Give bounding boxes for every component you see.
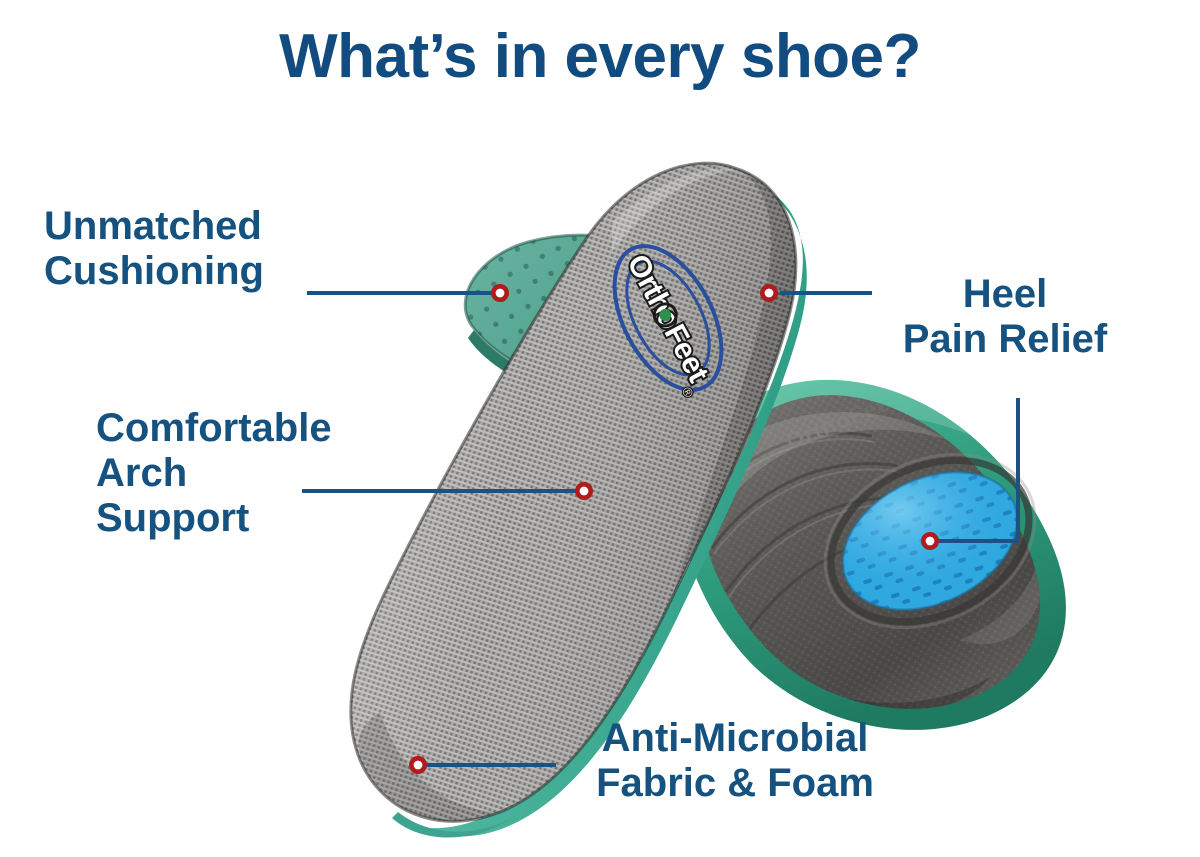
- callout-label-anti-microbial-fabric-foam: Anti-Microbial Fabric & Foam: [565, 716, 905, 806]
- callout-label-unmatched-cushioning: Unmatched Cushioning: [44, 204, 264, 294]
- marker-comfortable-arch-support: [575, 482, 593, 500]
- callout-label-heel-pain-relief: Heel Pain Relief: [880, 272, 1130, 362]
- callout-label-comfortable-arch-support: Comfortable Arch Support: [96, 406, 332, 540]
- poster-canvas: What’s in every shoe?: [0, 0, 1200, 857]
- marker-unmatched-cushioning: [491, 284, 509, 302]
- marker-heel-gel-pad: [921, 532, 939, 550]
- marker-heel-pain-relief: [760, 284, 778, 302]
- marker-anti-microbial: [409, 756, 427, 774]
